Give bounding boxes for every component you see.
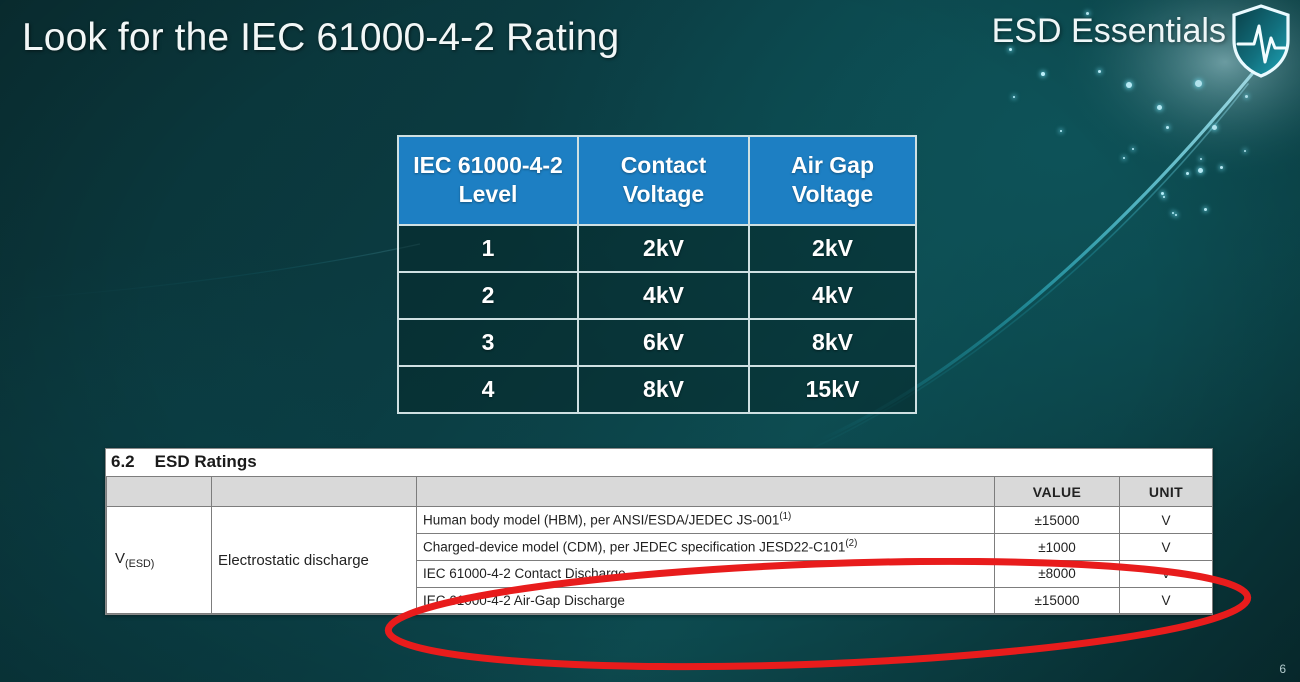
table-header-row: VALUE UNIT (107, 477, 1213, 507)
column-header-level: IEC 61000-4-2 Level (398, 136, 578, 225)
cell-contact: 8kV (578, 366, 749, 413)
brand-lockup: ESD Essentials (992, 8, 1292, 78)
column-header-contact-voltage: Contact Voltage (578, 136, 749, 225)
esd-ratings-table: VALUE UNIT V(ESD) Electrostatic discharg… (106, 476, 1213, 614)
cell-unit: V (1120, 561, 1213, 588)
cell-contact: 2kV (578, 225, 749, 272)
page-title: Look for the IEC 61000-4-2 Rating (22, 16, 619, 60)
table-row: V(ESD) Electrostatic discharge Human bod… (107, 507, 1213, 534)
section-title: ESD Ratings (155, 452, 257, 472)
table-row: 1 2kV 2kV (398, 225, 916, 272)
cell-contact: 6kV (578, 319, 749, 366)
cell-level: 4 (398, 366, 578, 413)
cell-airgap: 4kV (749, 272, 916, 319)
cell-airgap: 2kV (749, 225, 916, 272)
cell-airgap: 15kV (749, 366, 916, 413)
cell-level: 1 (398, 225, 578, 272)
footnote-ref: (2) (845, 538, 857, 549)
iec-level-table: IEC 61000-4-2 Level Contact Voltage Air … (397, 135, 917, 414)
cell-unit: V (1120, 587, 1213, 614)
cell-value: ±15000 (995, 587, 1120, 614)
footnote-ref: (1) (779, 511, 791, 522)
table-row: 4 8kV 15kV (398, 366, 916, 413)
symbol-base: V (115, 550, 125, 567)
cell-unit: V (1120, 507, 1213, 534)
header-line-2: Voltage (792, 181, 873, 207)
cell-condition: IEC 61000-4-2 Contact Discharge (417, 561, 995, 588)
brand-name: ESD Essentials (992, 12, 1226, 51)
column-header-parameter (212, 477, 417, 507)
cell-airgap: 8kV (749, 319, 916, 366)
slide-canvas: Look for the IEC 61000-4-2 Rating ESD Es… (0, 0, 1300, 682)
section-number: 6.2 (111, 452, 135, 472)
cell-unit: V (1120, 534, 1213, 561)
column-header-air-gap-voltage: Air Gap Voltage (749, 136, 916, 225)
table-row: 2 4kV 4kV (398, 272, 916, 319)
page-number: 6 (1279, 662, 1286, 676)
header-line-1: IEC 61000-4-2 (413, 152, 563, 178)
cell-condition: IEC 61000-4-2 Air-Gap Discharge (417, 587, 995, 614)
cell-condition: Human body model (HBM), per ANSI/ESDA/JE… (417, 507, 995, 534)
cell-value: ±15000 (995, 507, 1120, 534)
cell-level: 2 (398, 272, 578, 319)
datasheet-section-heading: 6.2 ESD Ratings (106, 449, 1212, 476)
header-line-1: Air Gap (791, 152, 874, 178)
condition-text: Charged-device model (CDM), per JEDEC sp… (423, 540, 845, 555)
shield-pulse-icon (1230, 4, 1292, 78)
cell-condition: Charged-device model (CDM), per JEDEC sp… (417, 534, 995, 561)
table-header-row: IEC 61000-4-2 Level Contact Voltage Air … (398, 136, 916, 225)
cell-value: ±8000 (995, 561, 1120, 588)
datasheet-excerpt: 6.2 ESD Ratings VALUE UNIT V(ESD) (105, 448, 1213, 615)
column-header-unit: UNIT (1120, 477, 1213, 507)
cell-parameter: Electrostatic discharge (212, 507, 417, 614)
cell-level: 3 (398, 319, 578, 366)
table-row: 3 6kV 8kV (398, 319, 916, 366)
column-header-symbol (107, 477, 212, 507)
symbol-subscript: (ESD) (125, 558, 154, 570)
column-header-value: VALUE (995, 477, 1120, 507)
header-line-1: Contact (621, 152, 707, 178)
cell-symbol: V(ESD) (107, 507, 212, 614)
condition-text: Human body model (HBM), per ANSI/ESDA/JE… (423, 513, 779, 528)
column-header-condition (417, 477, 995, 507)
cell-contact: 4kV (578, 272, 749, 319)
header-line-2: Level (459, 181, 518, 207)
header-line-2: Voltage (623, 181, 704, 207)
cell-value: ±1000 (995, 534, 1120, 561)
